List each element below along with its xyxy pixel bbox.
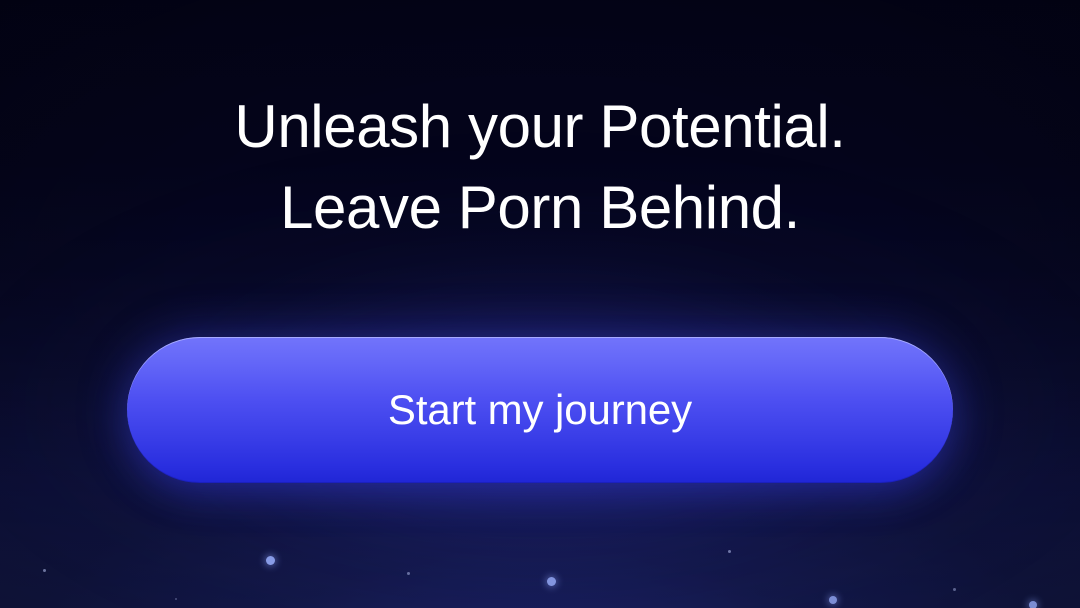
start-my-journey-label: Start my journey: [388, 389, 692, 431]
page-title: Unleash your Potential. Leave Porn Behin…: [0, 86, 1080, 248]
headline-line-2: Leave Porn Behind.: [0, 167, 1080, 248]
start-my-journey-button[interactable]: Start my journey: [127, 337, 953, 483]
headline-line-1: Unleash your Potential.: [0, 86, 1080, 167]
cta-container: Start my journey: [127, 337, 953, 483]
onboarding-screen: Unleash your Potential. Leave Porn Behin…: [0, 0, 1080, 608]
